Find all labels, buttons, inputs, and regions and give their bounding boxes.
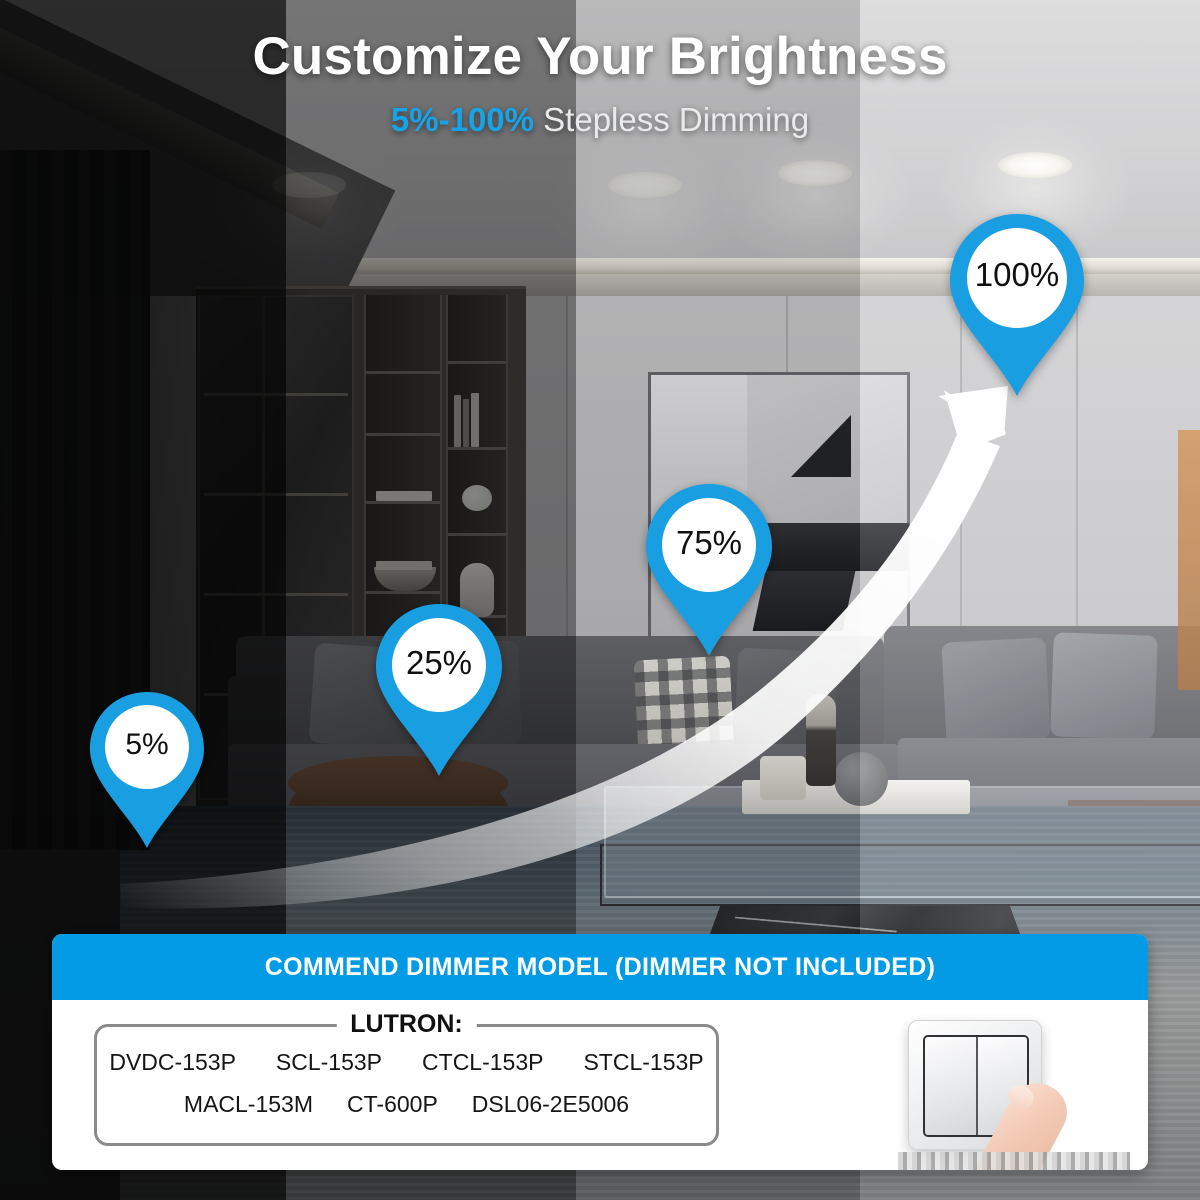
model-number: DSL06-2E5006 xyxy=(472,1091,629,1118)
model-number: CT-600P xyxy=(347,1091,438,1118)
model-number: CTCL-153P xyxy=(422,1049,543,1076)
floor-texture-strip xyxy=(898,1152,1130,1170)
model-row-2: MACL-153M CT-600P DSL06-2E5006 xyxy=(97,1091,716,1118)
model-number: MACL-153M xyxy=(184,1091,313,1118)
subtitle-rest: Stepless Dimming xyxy=(534,101,809,138)
card-banner-title: COMMEND DIMMER MODEL (DIMMER NOT INCLUDE… xyxy=(265,953,935,982)
pin-label: 75% xyxy=(644,524,774,562)
title-block: Customize Your Brightness 5%-100% Steple… xyxy=(0,26,1200,139)
brightness-pin-5: 5% xyxy=(88,690,206,850)
map-pin-icon xyxy=(88,690,206,850)
model-number: SCL-153P xyxy=(276,1049,382,1076)
model-row-1: DVDC-153P SCL-153P CTCL-153P STCL-153P xyxy=(97,1049,716,1076)
map-pin-icon xyxy=(374,602,504,778)
brightness-pin-25: 25% xyxy=(374,602,504,778)
pin-label: 25% xyxy=(374,644,504,682)
model-number: STCL-153P xyxy=(583,1049,703,1076)
map-pin-icon xyxy=(948,212,1086,398)
brightness-pin-100: 100% xyxy=(948,212,1086,398)
map-pin-icon xyxy=(644,482,774,658)
subtitle: 5%-100% Stepless Dimming xyxy=(0,101,1200,139)
subtitle-range: 5%-100% xyxy=(391,101,534,138)
lutron-model-box: LUTRON: DVDC-153P SCL-153P CTCL-153P STC… xyxy=(94,1024,719,1146)
card-banner: COMMEND DIMMER MODEL (DIMMER NOT INCLUDE… xyxy=(52,934,1148,1000)
page-title: Customize Your Brightness xyxy=(0,26,1200,87)
pin-label: 5% xyxy=(88,728,206,762)
brand-legend: LUTRON: xyxy=(336,1010,476,1039)
product-infographic: Customize Your Brightness 5%-100% Steple… xyxy=(0,0,1200,1200)
brightness-pin-75: 75% xyxy=(644,482,774,658)
dimmer-compatibility-card: COMMEND DIMMER MODEL (DIMMER NOT INCLUDE… xyxy=(52,934,1148,1170)
wall-light-switch-icon xyxy=(898,1006,1130,1170)
card-body: LUTRON: DVDC-153P SCL-153P CTCL-153P STC… xyxy=(52,1000,1148,1170)
switch-rocker-left xyxy=(925,1037,976,1135)
model-number: DVDC-153P xyxy=(109,1049,236,1076)
pin-label: 100% xyxy=(948,256,1086,294)
